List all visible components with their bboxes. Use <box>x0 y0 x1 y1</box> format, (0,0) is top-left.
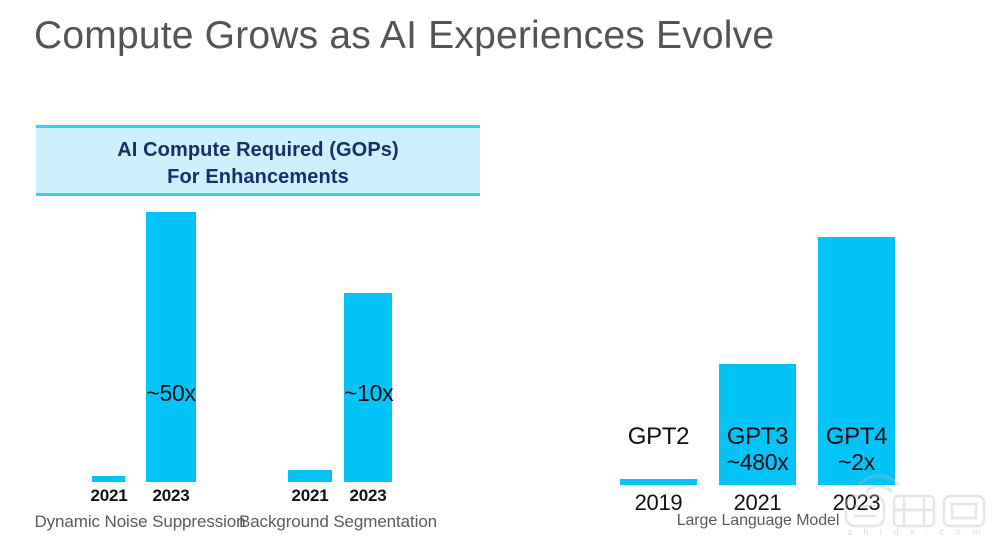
axis-label-large-language-model: Large Language Model <box>638 512 878 530</box>
bar-bgseg-2021[interactable] <box>288 470 332 482</box>
series-label-gpt3: GPT3 <box>719 423 796 451</box>
chart-panel-enhancements: AI Compute Required (GOPs) For Enhanceme… <box>0 0 510 542</box>
group-label-background-segmentation: Background Segmentation <box>223 512 453 532</box>
series-label-gpt4: GPT4 <box>818 423 895 451</box>
plot-area-enhancements: ~50x 2021 2023 Dynamic Noise Suppression… <box>0 0 510 542</box>
tick-label-dns-2021: 2021 <box>78 486 140 506</box>
bar-dns-2023[interactable] <box>146 212 196 482</box>
bar-value-bgseg-2023: ~10x <box>344 380 392 407</box>
bar-dns-2021[interactable] <box>92 476 125 482</box>
tick-label-dns-2023: 2023 <box>140 486 202 506</box>
tick-label-bgseg-2021: 2021 <box>279 486 341 506</box>
series-label-gpt2: GPT2 <box>620 423 697 451</box>
bar-value-gpt3: ~480x <box>719 449 796 476</box>
plot-area-llm: GPT2 2019 GPT3 ~480x 2021 GPT4 ~2x 2023 … <box>510 0 1000 542</box>
chart-panel-llm: AI Compute Required (TOPs) For Large Lan… <box>510 0 1000 542</box>
bar-value-dns-2023: ~50x <box>146 380 196 407</box>
tick-label-bgseg-2023: 2023 <box>337 486 399 506</box>
bar-value-gpt4: ~2x <box>818 449 895 476</box>
bar-gpt2-2019[interactable] <box>620 479 697 485</box>
